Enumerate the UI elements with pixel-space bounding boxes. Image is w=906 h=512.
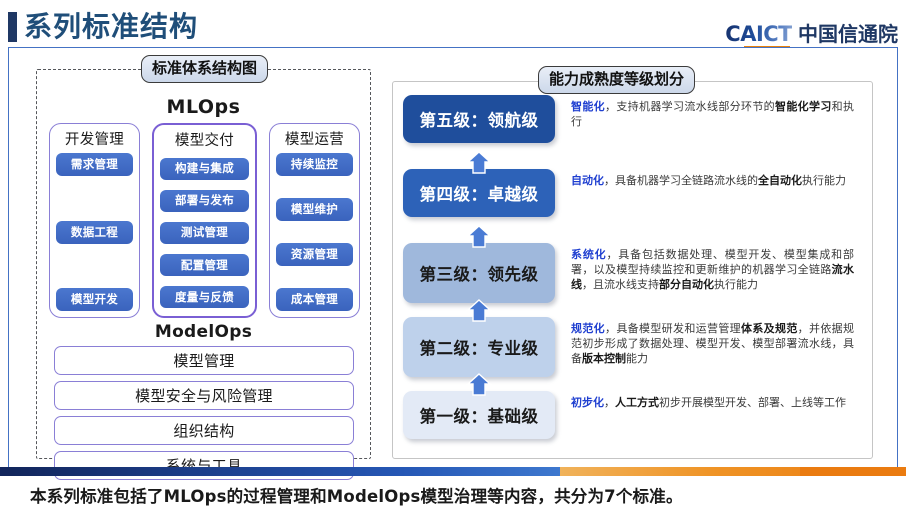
column-header: 模型运营 [285, 128, 344, 149]
maturity-levels-badge: 能力成熟度等级划分 [538, 66, 695, 94]
maturity-level-row: 第五级：领航级智能化，支持机器学习流水线部分环节的智能化学习和执行 [403, 95, 864, 143]
level-text: ，具备机器学习全链路流水线的 [604, 174, 758, 187]
maturity-level-badge[interactable]: 第三级：领先级 [403, 243, 555, 303]
maturity-level-description: 自动化，具备机器学习全链路流水线的全自动化执行能力 [571, 169, 864, 188]
caict-logo: CAICT 中国信通院 [725, 18, 898, 48]
logo-abbr-text: CAICT [725, 22, 792, 48]
standards-architecture-panel: 标准体系结构图 MLOps 开发管理 需求管理 数据工程 模型开发 模型交付 构… [36, 69, 371, 459]
level-emphasis: 人工方式 [615, 396, 659, 409]
mlops-column-model-operations[interactable]: 模型运营 持续监控 模型维护 资源管理 成本管理 [269, 123, 360, 318]
standards-architecture-badge: 标准体系结构图 [141, 55, 268, 83]
level-keyword: 自动化 [571, 174, 604, 187]
maturity-level-description: 规范化，具备模型研发和运营管理体系及规范，并依据规范初步形成了数据处理、模型开发… [571, 317, 864, 366]
level-emphasis: 智能化学习 [775, 100, 832, 113]
mlops-columns: 开发管理 需求管理 数据工程 模型开发 模型交付 构建与集成 部署与发布 测试管… [49, 123, 360, 318]
mlops-item[interactable]: 需求管理 [56, 153, 133, 176]
maturity-level-description: 系统化，具备包括数据处理、模型开发、模型集成和部署，以及模型持续监控和更新维护的… [571, 243, 864, 292]
modelops-heading: ModelOps [37, 322, 370, 342]
column-items: 持续监控 模型维护 资源管理 成本管理 [270, 153, 359, 317]
level-emphasis: 全自动化 [758, 174, 802, 187]
mlops-item[interactable]: 资源管理 [276, 243, 353, 266]
mlops-item[interactable]: 部署与发布 [160, 190, 249, 212]
maturity-levels-list: 第五级：领航级智能化，支持机器学习流水线部分环节的智能化学习和执行第四级：卓越级… [403, 95, 864, 447]
level-text: ，且流水线支持 [582, 278, 659, 291]
mlops-item[interactable]: 配置管理 [160, 254, 249, 276]
up-arrow-icon [466, 225, 492, 249]
column-header: 模型交付 [175, 129, 234, 150]
maturity-level-badge[interactable]: 第一级：基础级 [403, 391, 555, 439]
maturity-level-badge[interactable]: 第四级：卓越级 [403, 169, 555, 217]
level-text: ，具备模型研发和运营管理 [605, 322, 741, 335]
footer-bar-blue [10, 467, 570, 476]
level-text: 执行能力 [714, 278, 758, 291]
mlops-heading: MLOps [37, 96, 370, 118]
level-keyword: 规范化 [571, 322, 605, 335]
modelops-item[interactable]: 组织结构 [54, 416, 354, 445]
level-emphasis: 体系及规范 [741, 322, 798, 335]
up-arrow-icon [466, 151, 492, 175]
page-header: 系列标准结构 CAICT 中国信通院 [0, 0, 906, 50]
mlops-item[interactable]: 数据工程 [56, 221, 133, 244]
up-arrow-icon [466, 373, 492, 397]
page-title: 系列标准结构 [24, 8, 198, 46]
column-items: 需求管理 数据工程 模型开发 [50, 153, 139, 317]
level-keyword: 系统化 [571, 248, 606, 261]
level-text: 能力 [626, 352, 648, 365]
footer-bar-orange-tail [800, 467, 906, 476]
mlops-item[interactable]: 测试管理 [160, 222, 249, 244]
column-items: 构建与集成 部署与发布 测试管理 配置管理 度量与反馈 [154, 154, 255, 316]
level-emphasis: 版本控制 [582, 352, 626, 365]
column-header: 开发管理 [65, 128, 124, 149]
slide-content-frame: 标准体系结构图 MLOps 开发管理 需求管理 数据工程 模型开发 模型交付 构… [8, 47, 898, 472]
modelops-rows: 模型管理 模型安全与风险管理 组织结构 系统与工具 [54, 346, 354, 480]
level-text: ，具备包括数据处理、模型开发、模型集成和部署，以及模型持续监控和更新维护的机器学… [571, 248, 854, 276]
up-arrow-icon [466, 299, 492, 323]
mlops-column-model-delivery[interactable]: 模型交付 构建与集成 部署与发布 测试管理 配置管理 度量与反馈 [152, 123, 257, 318]
maturity-level-badge[interactable]: 第五级：领航级 [403, 95, 555, 143]
maturity-level-description: 智能化，支持机器学习流水线部分环节的智能化学习和执行 [571, 95, 864, 129]
mlops-item[interactable]: 持续监控 [276, 153, 353, 176]
level-text: ， [604, 396, 615, 409]
mlops-item[interactable]: 度量与反馈 [160, 286, 249, 308]
modelops-item[interactable]: 模型管理 [54, 346, 354, 375]
level-text: 初步开展模型开发、部署、上线等工作 [659, 396, 846, 409]
maturity-level-description: 初步化，人工方式初步开展模型开发、部署、上线等工作 [571, 391, 864, 410]
title-accent-bar [8, 12, 17, 42]
level-text: ，支持机器学习流水线部分环节的 [605, 100, 775, 113]
maturity-level-badge[interactable]: 第二级：专业级 [403, 317, 555, 377]
footer-summary-text: 本系列标准包括了MLOps的过程管理和ModelOps模型治理等内容，共分为7个… [30, 483, 683, 507]
level-emphasis: 部分自动化 [659, 278, 714, 291]
maturity-level-row: 第一级：基础级初步化，人工方式初步开展模型开发、部署、上线等工作 [403, 391, 864, 439]
mlops-column-dev-management[interactable]: 开发管理 需求管理 数据工程 模型开发 [49, 123, 140, 318]
level-text: 执行能力 [802, 174, 846, 187]
maturity-level-row: 第四级：卓越级自动化，具备机器学习全链路流水线的全自动化执行能力 [403, 169, 864, 217]
maturity-level-row: 第二级：专业级规范化，具备模型研发和运营管理体系及规范，并依据规范初步形成了数据… [403, 317, 864, 377]
mlops-item[interactable]: 构建与集成 [160, 158, 249, 180]
footer-color-bar [0, 467, 906, 476]
modelops-item[interactable]: 模型安全与风险管理 [54, 381, 354, 410]
level-keyword: 智能化 [571, 100, 605, 113]
mlops-item[interactable]: 模型维护 [276, 198, 353, 221]
maturity-level-row: 第三级：领先级系统化，具备包括数据处理、模型开发、模型集成和部署，以及模型持续监… [403, 243, 864, 303]
mlops-item[interactable]: 成本管理 [276, 288, 353, 311]
logo-chinese-text: 中国信通院 [798, 18, 898, 47]
maturity-levels-panel: 能力成熟度等级划分 第五级：领航级智能化，支持机器学习流水线部分环节的智能化学习… [392, 81, 873, 459]
level-keyword: 初步化 [571, 396, 604, 409]
mlops-item[interactable]: 模型开发 [56, 288, 133, 311]
